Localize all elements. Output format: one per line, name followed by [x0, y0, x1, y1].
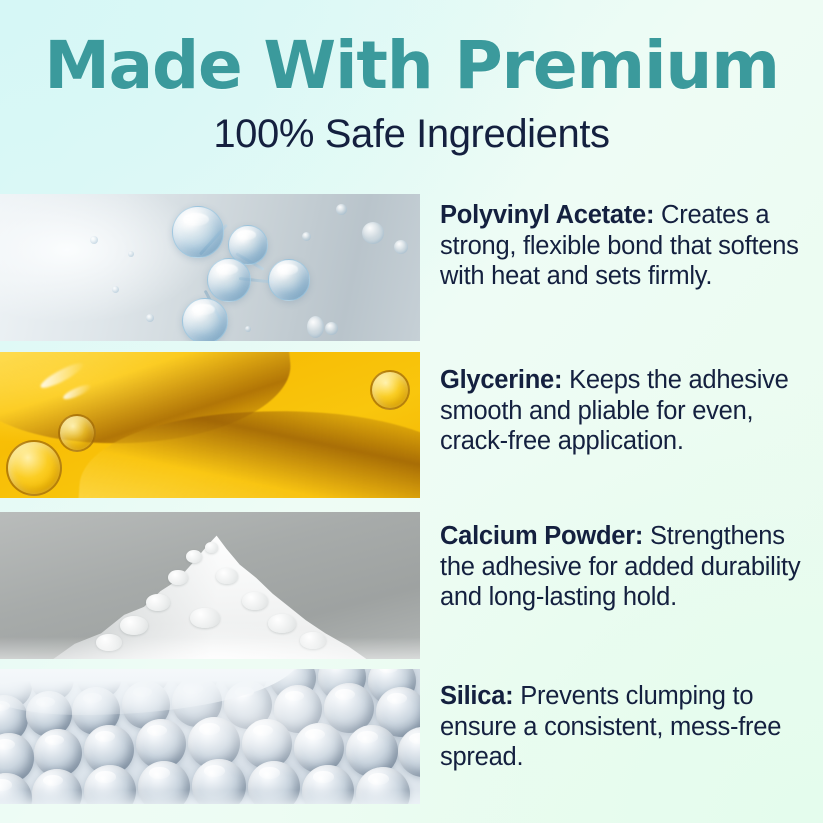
background-droplet	[245, 326, 251, 332]
background-droplet	[325, 322, 338, 335]
ingredients-infographic: Made With Premium 100% Safe Ingredients	[0, 0, 823, 823]
silica-bottom-fade	[0, 790, 420, 804]
golden-oil-photo	[0, 352, 420, 498]
ingredient-term: Glycerine:	[440, 366, 562, 394]
background-droplet	[112, 286, 119, 293]
powder-grain	[186, 550, 202, 563]
ingredient-text-silica: Silica: Prevents clumping to ensure a co…	[440, 681, 812, 773]
background-droplet	[90, 236, 98, 244]
powder-grain	[216, 568, 238, 584]
ingredient-term: Silica:	[440, 682, 513, 710]
ingredient-row-polyvinyl-acetate: Polyvinyl Acetate: Creates a strong, fle…	[0, 194, 823, 341]
silica-spheres-image-canvas	[0, 669, 420, 804]
background-droplet	[146, 314, 154, 322]
ingredient-term: Polyvinyl Acetate:	[440, 201, 654, 229]
oil-bubble	[58, 414, 96, 452]
background-droplet	[302, 232, 311, 241]
page-title: Made With Premium	[0, 0, 823, 105]
molecule-bubbles-image-canvas	[0, 194, 420, 341]
oil-bubble	[6, 440, 62, 496]
background-droplet	[336, 204, 347, 215]
molecule-sphere	[268, 259, 310, 301]
white-powder-photo	[0, 512, 420, 659]
oil-bubble	[370, 370, 410, 410]
powder-grain	[242, 592, 268, 610]
powder-grain	[120, 616, 148, 635]
molecule-bubbles-photo	[0, 194, 420, 341]
ingredient-row-calcium-powder: Calcium Powder: Strengthens the adhesive…	[0, 512, 823, 659]
powder-grain	[146, 594, 170, 611]
molecule-sphere	[207, 258, 251, 302]
molecule-sphere	[172, 206, 224, 258]
white-powder-image-canvas	[0, 512, 420, 659]
powder-grain	[190, 608, 220, 628]
ingredient-term: Calcium Powder:	[440, 522, 643, 550]
silica-spheres-photo	[0, 669, 420, 804]
background-droplet	[394, 240, 408, 254]
powder-grain	[205, 542, 218, 553]
page-subtitle: 100% Safe Ingredients	[0, 105, 823, 157]
ingredient-row-glycerine: Glycerine: Keeps the adhesive smooth and…	[0, 352, 823, 498]
golden-oil-image-canvas	[0, 352, 420, 498]
ingredient-text-calcium-powder: Calcium Powder: Strengthens the adhesive…	[440, 521, 812, 613]
ingredient-text-polyvinyl-acetate: Polyvinyl Acetate: Creates a strong, fle…	[440, 200, 812, 292]
ingredient-row-silica: Silica: Prevents clumping to ensure a co…	[0, 669, 823, 804]
background-droplet	[128, 251, 134, 257]
molecule-sphere	[182, 298, 228, 341]
header: Made With Premium 100% Safe Ingredients	[0, 0, 823, 157]
powder-grain	[168, 570, 188, 585]
background-droplet	[307, 316, 324, 338]
ingredient-text-glycerine: Glycerine: Keeps the adhesive smooth and…	[440, 365, 812, 457]
powder-grain	[268, 614, 296, 633]
powder-dust	[0, 637, 420, 659]
background-droplet	[362, 222, 384, 244]
